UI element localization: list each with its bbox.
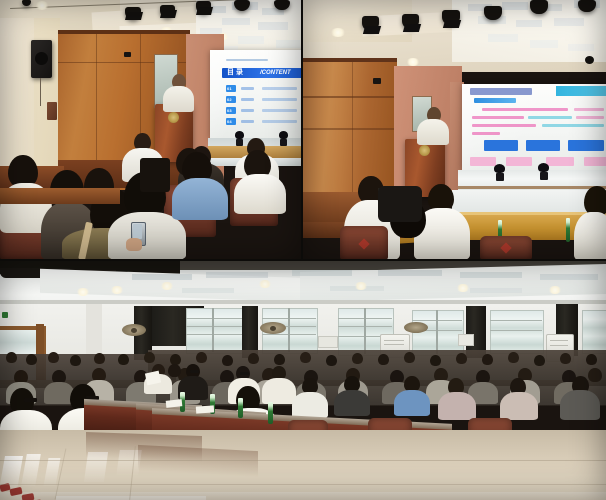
downlight (456, 284, 470, 292)
slide-pink-box-4 (584, 157, 606, 166)
audience-head (300, 352, 311, 363)
banner-en-label: /CONTENT (260, 70, 291, 77)
water-bottle (566, 218, 570, 242)
banner-cn-label: 目 录 (227, 69, 243, 77)
wood-wall (302, 58, 397, 193)
audience-body-dark (334, 390, 370, 416)
exit-sign (2, 312, 8, 318)
photo-top-right (302, 0, 606, 260)
slide-item-sub-01 (262, 87, 297, 90)
wall-fan-hub (131, 328, 137, 333)
speaker-cable (40, 78, 41, 106)
front-desk (0, 188, 120, 204)
tile-joint (0, 460, 606, 461)
moving-head-light (536, 163, 552, 181)
downlight (110, 286, 124, 294)
photo-top-left: 目 录 /CONTENT 01 02 03 04 (0, 0, 302, 260)
audience-head (6, 352, 17, 363)
slide-item-number: 02 (227, 97, 232, 102)
slide-header-title (470, 88, 532, 95)
ceiling-tile (292, 270, 352, 276)
window (490, 310, 544, 354)
slide-blue-box-3 (568, 140, 604, 151)
slide-item-label-02 (241, 98, 254, 101)
ceiling-tile (182, 288, 234, 293)
ceiling-tile (540, 274, 598, 280)
downlight (330, 28, 346, 37)
ceiling-tile (530, 40, 558, 48)
slide-header-line (226, 59, 268, 61)
slide-item-number: 01 (227, 86, 232, 91)
audience-head (196, 352, 207, 363)
screen-glare (210, 50, 302, 138)
audience-head (48, 352, 59, 363)
audience-body-pink (438, 392, 476, 420)
ceiling-tile (460, 272, 522, 278)
moving-head-light (492, 164, 508, 182)
water-bottle (238, 398, 243, 418)
slide-body-line (574, 108, 604, 111)
wood-wall-seam (352, 62, 353, 192)
ceiling-tile (206, 272, 268, 278)
eyeglasses (24, 398, 37, 402)
slide-blue-box-1 (484, 140, 518, 151)
audience-head (378, 354, 389, 365)
audience-head (456, 353, 467, 364)
slide-item-number: 04 (227, 119, 232, 124)
audience-head (248, 353, 259, 364)
ceiling-tile (258, 22, 288, 30)
downlight (548, 286, 562, 294)
audience-head (534, 355, 545, 366)
window (582, 310, 606, 354)
wall-fan-hub (270, 326, 276, 331)
audience-head (352, 353, 363, 364)
water-bottle (268, 402, 273, 424)
slide-item-badge-01: 01 (226, 85, 236, 92)
audience-head (588, 368, 602, 382)
ceiling-tile (488, 34, 518, 42)
speaker-body (417, 119, 449, 145)
spotlight-shade (403, 24, 421, 32)
slide-item-badge-04: 04 (226, 118, 236, 125)
slide-body-line (482, 108, 568, 111)
audience-head (560, 353, 571, 364)
ceiling-tile (238, 36, 264, 44)
moving-head-light (233, 131, 246, 147)
slide-item-badge-02: 02 (226, 96, 236, 103)
photo-bottom-panorama (0, 260, 606, 500)
wall-box (458, 334, 474, 346)
photo-collage: 目 录 /CONTENT 01 02 03 04 (0, 0, 606, 500)
podium-emblem-icon (168, 112, 179, 123)
audience-body (234, 174, 286, 214)
speaker-body (163, 86, 194, 112)
audience-head (118, 354, 129, 365)
floor-near (0, 474, 606, 500)
slide-body-line (472, 124, 536, 127)
ceiling-tile (554, 18, 584, 26)
spotlight-shade (125, 12, 143, 20)
slide-body-line (542, 124, 604, 127)
slide-item-badge-03: 03 (226, 107, 236, 114)
slide-item-sub-03 (262, 109, 297, 112)
downlight (406, 58, 420, 66)
slide-item-label-04 (241, 120, 254, 123)
ac-vent (384, 344, 404, 345)
slide-item-label-01 (241, 87, 254, 90)
small-speaker (124, 52, 131, 57)
window-louver (186, 318, 242, 319)
audience-head (26, 354, 37, 365)
wood-wall-trim (302, 58, 397, 62)
window-louver (186, 326, 242, 327)
security-camera (585, 56, 594, 64)
audience-body (574, 212, 606, 260)
wall-fan (404, 322, 428, 333)
audience-body-blue (394, 390, 430, 416)
audience-head (222, 355, 233, 366)
ceiling-tile (276, 40, 300, 48)
ceiling-tile (378, 270, 442, 276)
slide-body-line (528, 116, 572, 119)
slide-blue-box-2 (526, 140, 560, 151)
window-mullion (212, 308, 214, 352)
audience-body-blue (172, 178, 228, 220)
ceiling-tile (502, 2, 528, 10)
window (186, 308, 244, 354)
window-mullion (436, 310, 438, 354)
wall-box (318, 336, 338, 348)
moving-head-light (277, 131, 290, 147)
audience-head (326, 355, 337, 366)
slide-body-line (472, 116, 524, 119)
podium-emblem-icon (419, 145, 430, 156)
window-mullion (288, 308, 290, 352)
audience-head (586, 354, 597, 365)
wood-wall-trim (58, 30, 190, 34)
speaker-woofer (35, 52, 48, 65)
audience-head (274, 354, 285, 365)
slide-item-label-03 (241, 109, 254, 112)
eyeglasses (190, 370, 199, 373)
ac-vent (550, 345, 568, 346)
downlight (258, 280, 272, 288)
ceiling-tile (222, 18, 250, 25)
audience-head (482, 354, 493, 365)
slide-item-sub-04 (262, 120, 297, 123)
window-mullion (364, 308, 366, 354)
ac-vent (384, 340, 404, 341)
collage-seam-vertical (301, 0, 303, 260)
audience-body-dark (560, 390, 600, 420)
ceiling-tile (568, 44, 594, 51)
wood-wall-seam (302, 96, 397, 98)
spotlight-fixture (484, 6, 502, 20)
wood-wall-seam (302, 128, 397, 130)
window-louver (490, 320, 542, 321)
spotlight-shade (160, 10, 177, 18)
ceiling-tile (516, 20, 542, 27)
audience-body-pink (500, 392, 538, 420)
ceiling-tile (132, 274, 192, 280)
audience-head (94, 353, 105, 364)
slide-content-banner: 目 录 /CONTENT (222, 68, 302, 78)
floor-monitor-speaker (378, 186, 422, 222)
downlight (354, 282, 368, 290)
stage-edge (458, 186, 606, 189)
downlight (35, 1, 49, 10)
audience-body-white (262, 378, 296, 404)
slide-item-sub-02 (262, 98, 297, 101)
floor-stripe (21, 493, 34, 500)
ac-vent (550, 340, 568, 341)
audience-head (404, 352, 415, 363)
paper-sheet (196, 405, 214, 413)
hand (126, 238, 142, 251)
small-speaker (373, 78, 381, 84)
window-louver (186, 334, 242, 335)
spotlight-shade (443, 20, 461, 28)
downlight (160, 282, 174, 290)
audience-head (70, 355, 81, 366)
audience-head (508, 352, 519, 363)
collage-seam-horizontal (0, 259, 606, 261)
slide-item-number: 03 (227, 108, 232, 113)
audience-body-white (292, 392, 328, 418)
spotlight-shade (363, 26, 381, 34)
smartphone-screen (133, 224, 142, 239)
tile-joint (0, 484, 606, 485)
audience-head (430, 355, 441, 366)
ceiling-tile (470, 288, 522, 293)
slide-body-line (472, 132, 500, 135)
audience-head (144, 352, 155, 363)
slide-pink-box-2 (506, 157, 532, 166)
window-louver (490, 330, 542, 331)
stage-monitor-speaker (140, 158, 170, 192)
spotlight-fixture (530, 0, 548, 14)
eyeglasses (240, 372, 249, 375)
audience-head (168, 364, 181, 377)
slide-header-accent (556, 86, 606, 96)
wall-panel-box (47, 102, 57, 120)
downlight (76, 288, 90, 296)
slide-subheader (474, 98, 516, 103)
slide-body-line (576, 116, 604, 119)
spotlight-shade (196, 7, 213, 15)
